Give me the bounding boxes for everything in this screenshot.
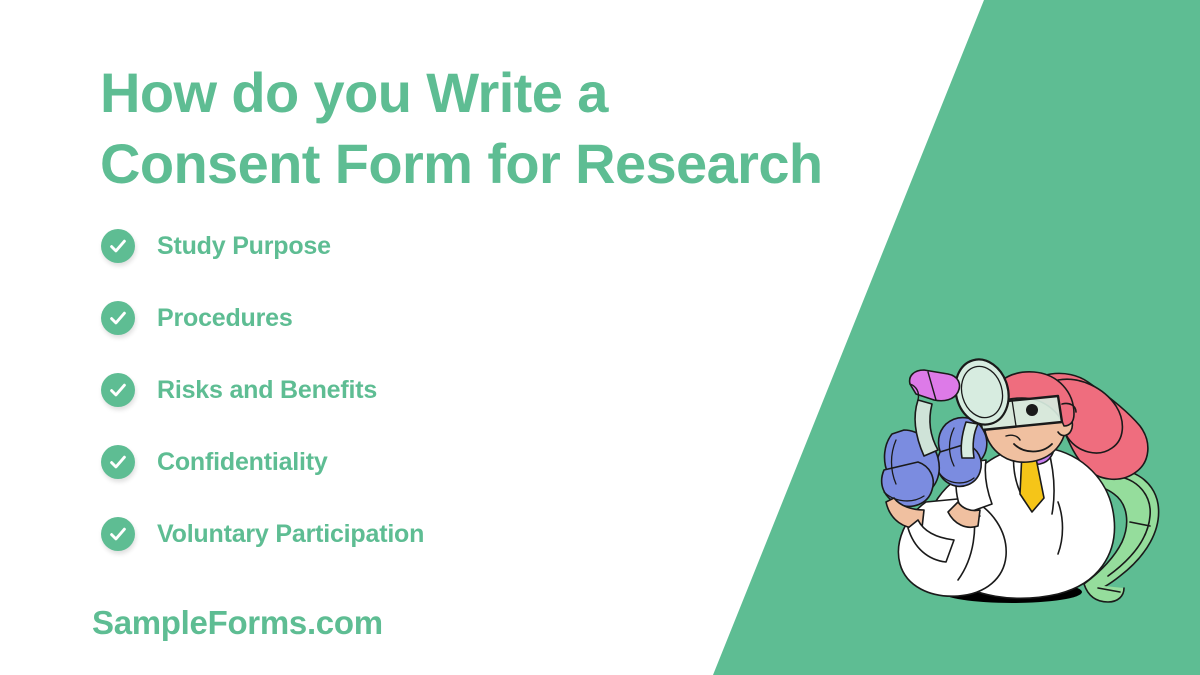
list-item-label: Voluntary Participation [157, 520, 424, 549]
list-item[interactable]: Confidentiality [101, 442, 424, 482]
list-item[interactable]: Voluntary Participation [101, 514, 424, 554]
list-item-label: Study Purpose [157, 232, 331, 261]
check-circle-icon [101, 301, 135, 335]
list-item[interactable]: Procedures [101, 298, 424, 338]
content-column: How do you Write a Consent Form for Rese… [100, 0, 880, 675]
list-item-label: Confidentiality [157, 448, 328, 477]
page-title: How do you Write a Consent Form for Rese… [100, 58, 840, 199]
scientist-with-magnifying-glass-illustration [862, 352, 1178, 618]
check-circle-icon [101, 517, 135, 551]
check-circle-icon [101, 445, 135, 479]
checklist: Study Purpose Procedures Risks and Benef… [101, 226, 424, 586]
check-circle-icon [101, 229, 135, 263]
list-item-label: Procedures [157, 304, 293, 333]
list-item[interactable]: Study Purpose [101, 226, 424, 266]
check-circle-icon [101, 373, 135, 407]
list-item[interactable]: Risks and Benefits [101, 370, 424, 410]
infographic-canvas: How do you Write a Consent Form for Rese… [0, 0, 1200, 675]
brand-wordmark: SampleForms.com [92, 604, 383, 642]
list-item-label: Risks and Benefits [157, 376, 377, 405]
